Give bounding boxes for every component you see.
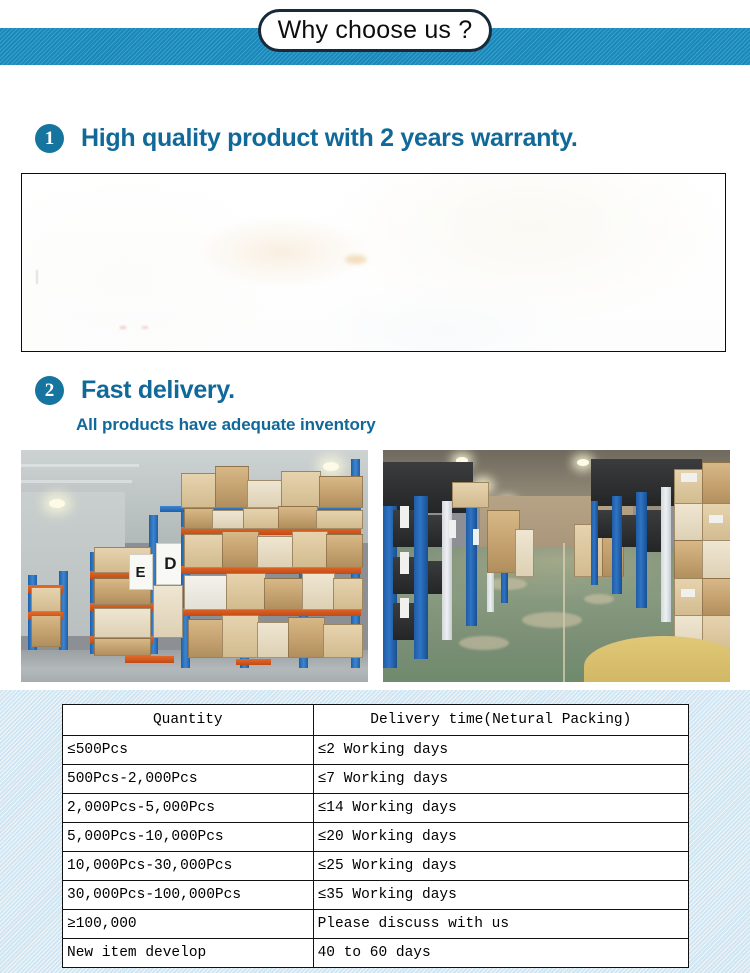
table-row: 30,000Pcs-100,000Pcs≤35 Working days xyxy=(63,881,689,910)
cell-delivery-time: ≤35 Working days xyxy=(313,881,688,910)
carton-box xyxy=(674,503,704,542)
cell-quantity: ≤500Pcs xyxy=(63,736,314,765)
photo-artifact xyxy=(142,326,148,329)
feature-2-number-badge: 2 xyxy=(35,376,64,405)
rack-post xyxy=(591,501,598,585)
carton-box xyxy=(212,510,245,528)
cell-delivery-time: ≤25 Working days xyxy=(313,852,688,881)
column-header-delivery-time: Delivery time(Netural Packing) xyxy=(313,705,688,736)
cell-quantity: ≥100,000 xyxy=(63,910,314,939)
box-label xyxy=(681,589,695,597)
table-header-row: Quantity Delivery time(Netural Packing) xyxy=(63,705,689,736)
feature-1-number-badge: 1 xyxy=(35,124,64,153)
table-row: 2,000Pcs-5,000Pcs≤14 Working days xyxy=(63,794,689,823)
carton-box xyxy=(326,534,363,568)
carton-box xyxy=(188,619,225,658)
cell-delivery-time: ≤7 Working days xyxy=(313,765,688,794)
header-title-pill: Why choose us ? xyxy=(258,9,492,52)
shelf-label xyxy=(400,552,409,574)
shelf-label xyxy=(449,520,456,538)
photo-ceiling-lamp xyxy=(323,462,339,471)
carton-box xyxy=(278,506,318,529)
warehouse-aisle-photo xyxy=(383,450,730,682)
carton-box xyxy=(319,476,363,508)
shelf-label xyxy=(400,506,409,528)
floor-mark xyxy=(459,636,509,650)
rack-post xyxy=(661,487,671,622)
shelf-label xyxy=(473,529,479,545)
feature-item-2-heading: 2 Fast delivery. xyxy=(35,376,235,405)
table-row: ≥100,000Please discuss with us xyxy=(63,910,689,939)
carton-box xyxy=(674,540,704,579)
cell-quantity: 10,000Pcs-30,000Pcs xyxy=(63,852,314,881)
shelf-bin xyxy=(647,510,661,552)
box-label xyxy=(681,473,697,482)
carton-box xyxy=(302,573,335,610)
photo-artifact xyxy=(120,326,126,329)
cell-delivery-time: ≤2 Working days xyxy=(313,736,688,765)
shelf-bin xyxy=(598,510,612,538)
feature-2-title: Fast delivery. xyxy=(81,376,235,405)
carton-box xyxy=(222,615,259,659)
cell-quantity: 5,000Pcs-10,000Pcs xyxy=(63,823,314,852)
page-title: Why choose us ? xyxy=(278,18,473,43)
table-row: 10,000Pcs-30,000Pcs≤25 Working days xyxy=(63,852,689,881)
carton-box xyxy=(288,617,325,658)
carton-box xyxy=(215,466,248,507)
box-label xyxy=(709,515,723,523)
carton-box xyxy=(247,480,284,508)
column-header-quantity: Quantity xyxy=(63,705,314,736)
page-header: Why choose us ? xyxy=(0,0,750,70)
cell-delivery-time: Please discuss with us xyxy=(313,910,688,939)
photo-beam xyxy=(21,480,132,483)
carton-box xyxy=(226,573,266,610)
product-photo-image xyxy=(22,174,725,351)
photo-artifact xyxy=(36,270,38,284)
photo-ceiling-lamp xyxy=(49,499,65,508)
shelf-label xyxy=(400,598,409,618)
carton-box xyxy=(31,615,61,647)
carton-box xyxy=(257,536,294,568)
carton-box xyxy=(323,624,363,658)
carton-box xyxy=(515,529,534,577)
photo-beam xyxy=(21,464,139,467)
shelf-bin xyxy=(428,561,442,593)
aisle-sign-e: E xyxy=(129,554,153,590)
carton-box xyxy=(316,510,363,528)
carton-box xyxy=(281,471,321,508)
carton-box xyxy=(452,482,489,507)
carton-box xyxy=(94,608,152,638)
feature-1-title: High quality product with 2 years warran… xyxy=(81,124,577,153)
cell-quantity: 500Pcs-2,000Pcs xyxy=(63,765,314,794)
table-row: ≤500Pcs≤2 Working days xyxy=(63,736,689,765)
rack-foot xyxy=(125,656,174,663)
carton-box xyxy=(292,531,329,568)
product-photo-frame xyxy=(21,173,726,352)
cell-quantity: 2,000Pcs-5,000Pcs xyxy=(63,794,314,823)
carton-box xyxy=(702,540,730,579)
carton-box xyxy=(243,508,280,529)
table-row: 5,000Pcs-10,000Pcs≤20 Working days xyxy=(63,823,689,852)
carton-box xyxy=(264,578,304,610)
carton-box xyxy=(153,585,183,638)
rack-post xyxy=(414,496,428,658)
rack-post xyxy=(612,496,622,593)
carton-box xyxy=(184,575,228,609)
shelf-bin xyxy=(428,515,442,547)
cell-delivery-time: 40 to 60 days xyxy=(313,939,688,968)
floor-mark xyxy=(584,594,614,604)
rack-post xyxy=(636,492,646,608)
rack-post xyxy=(466,506,476,627)
cell-quantity: New item develop xyxy=(63,939,314,968)
cell-delivery-time: ≤20 Working days xyxy=(313,823,688,852)
carton-box xyxy=(184,508,214,529)
delivery-time-table: Quantity Delivery time(Netural Packing) … xyxy=(62,704,689,968)
cell-delivery-time: ≤14 Working days xyxy=(313,794,688,823)
table-row: New item develop40 to 60 days xyxy=(63,939,689,968)
carton-box xyxy=(94,638,152,656)
feature-item-1-heading: 1 High quality product with 2 years warr… xyxy=(35,124,577,153)
warehouse-racking-photo: E D xyxy=(21,450,368,682)
feature-2-subtitle: All products have adequate inventory xyxy=(76,415,376,435)
shelf-bin xyxy=(622,515,636,547)
carton-box xyxy=(257,622,290,659)
carton-box xyxy=(31,587,61,612)
cell-quantity: 30,000Pcs-100,000Pcs xyxy=(63,881,314,910)
carton-box xyxy=(333,578,363,610)
carton-box xyxy=(702,578,730,617)
carton-box xyxy=(184,534,224,568)
table-row: 500Pcs-2,000Pcs≤7 Working days xyxy=(63,765,689,794)
carton-box xyxy=(702,462,730,506)
carton-box xyxy=(222,531,259,568)
rack-foot xyxy=(236,659,271,665)
delivery-table-panel: Quantity Delivery time(Netural Packing) … xyxy=(0,690,750,973)
carton-box xyxy=(181,473,218,507)
